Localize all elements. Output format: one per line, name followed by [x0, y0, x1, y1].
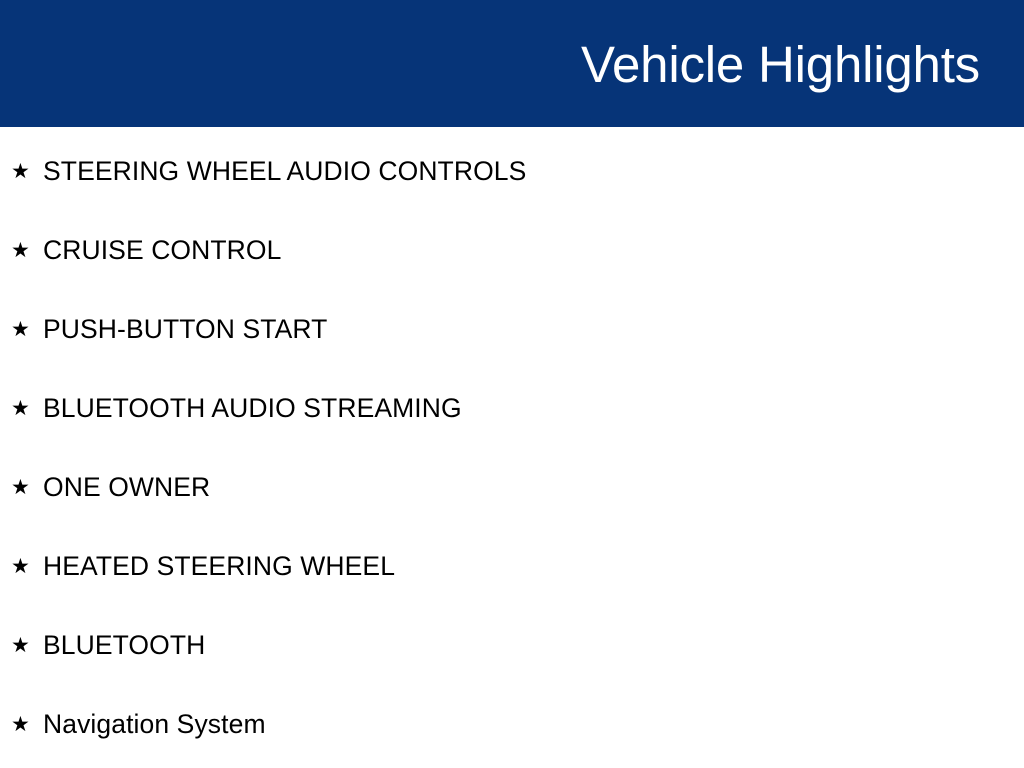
header-banner: Vehicle Highlights	[0, 0, 1024, 127]
list-item: ★ CRUISE CONTROL	[0, 234, 1024, 268]
page-title: Vehicle Highlights	[581, 39, 980, 90]
star-icon: ★	[11, 161, 43, 182]
list-item: ★ BLUETOOTH	[0, 629, 1024, 663]
highlight-label: CRUISE CONTROL	[43, 236, 281, 265]
highlight-label: HEATED STEERING WHEEL	[43, 552, 395, 581]
highlight-label: Navigation System	[43, 710, 266, 739]
highlight-label: STEERING WHEEL AUDIO CONTROLS	[43, 157, 526, 186]
star-icon: ★	[11, 319, 43, 340]
star-icon: ★	[11, 398, 43, 419]
highlight-label: PUSH-BUTTON START	[43, 315, 327, 344]
star-icon: ★	[11, 635, 43, 656]
star-icon: ★	[11, 556, 43, 577]
vehicle-highlights-slide: Vehicle Highlights ★ STEERING WHEEL AUDI…	[0, 0, 1024, 768]
list-item: ★ PUSH-BUTTON START	[0, 313, 1024, 347]
highlight-label: BLUETOOTH AUDIO STREAMING	[43, 394, 462, 423]
star-icon: ★	[11, 240, 43, 261]
vehicle-highlights-list: ★ STEERING WHEEL AUDIO CONTROLS ★ CRUISE…	[0, 127, 1024, 768]
list-item: ★ Navigation System	[0, 708, 1024, 742]
list-item: ★ ONE OWNER	[0, 471, 1024, 505]
highlight-label: BLUETOOTH	[43, 631, 205, 660]
list-item: ★ HEATED STEERING WHEEL	[0, 550, 1024, 584]
list-item: ★ STEERING WHEEL AUDIO CONTROLS	[0, 155, 1024, 189]
star-icon: ★	[11, 477, 43, 498]
list-item: ★ BLUETOOTH AUDIO STREAMING	[0, 392, 1024, 426]
star-icon: ★	[11, 714, 43, 735]
highlight-label: ONE OWNER	[43, 473, 210, 502]
